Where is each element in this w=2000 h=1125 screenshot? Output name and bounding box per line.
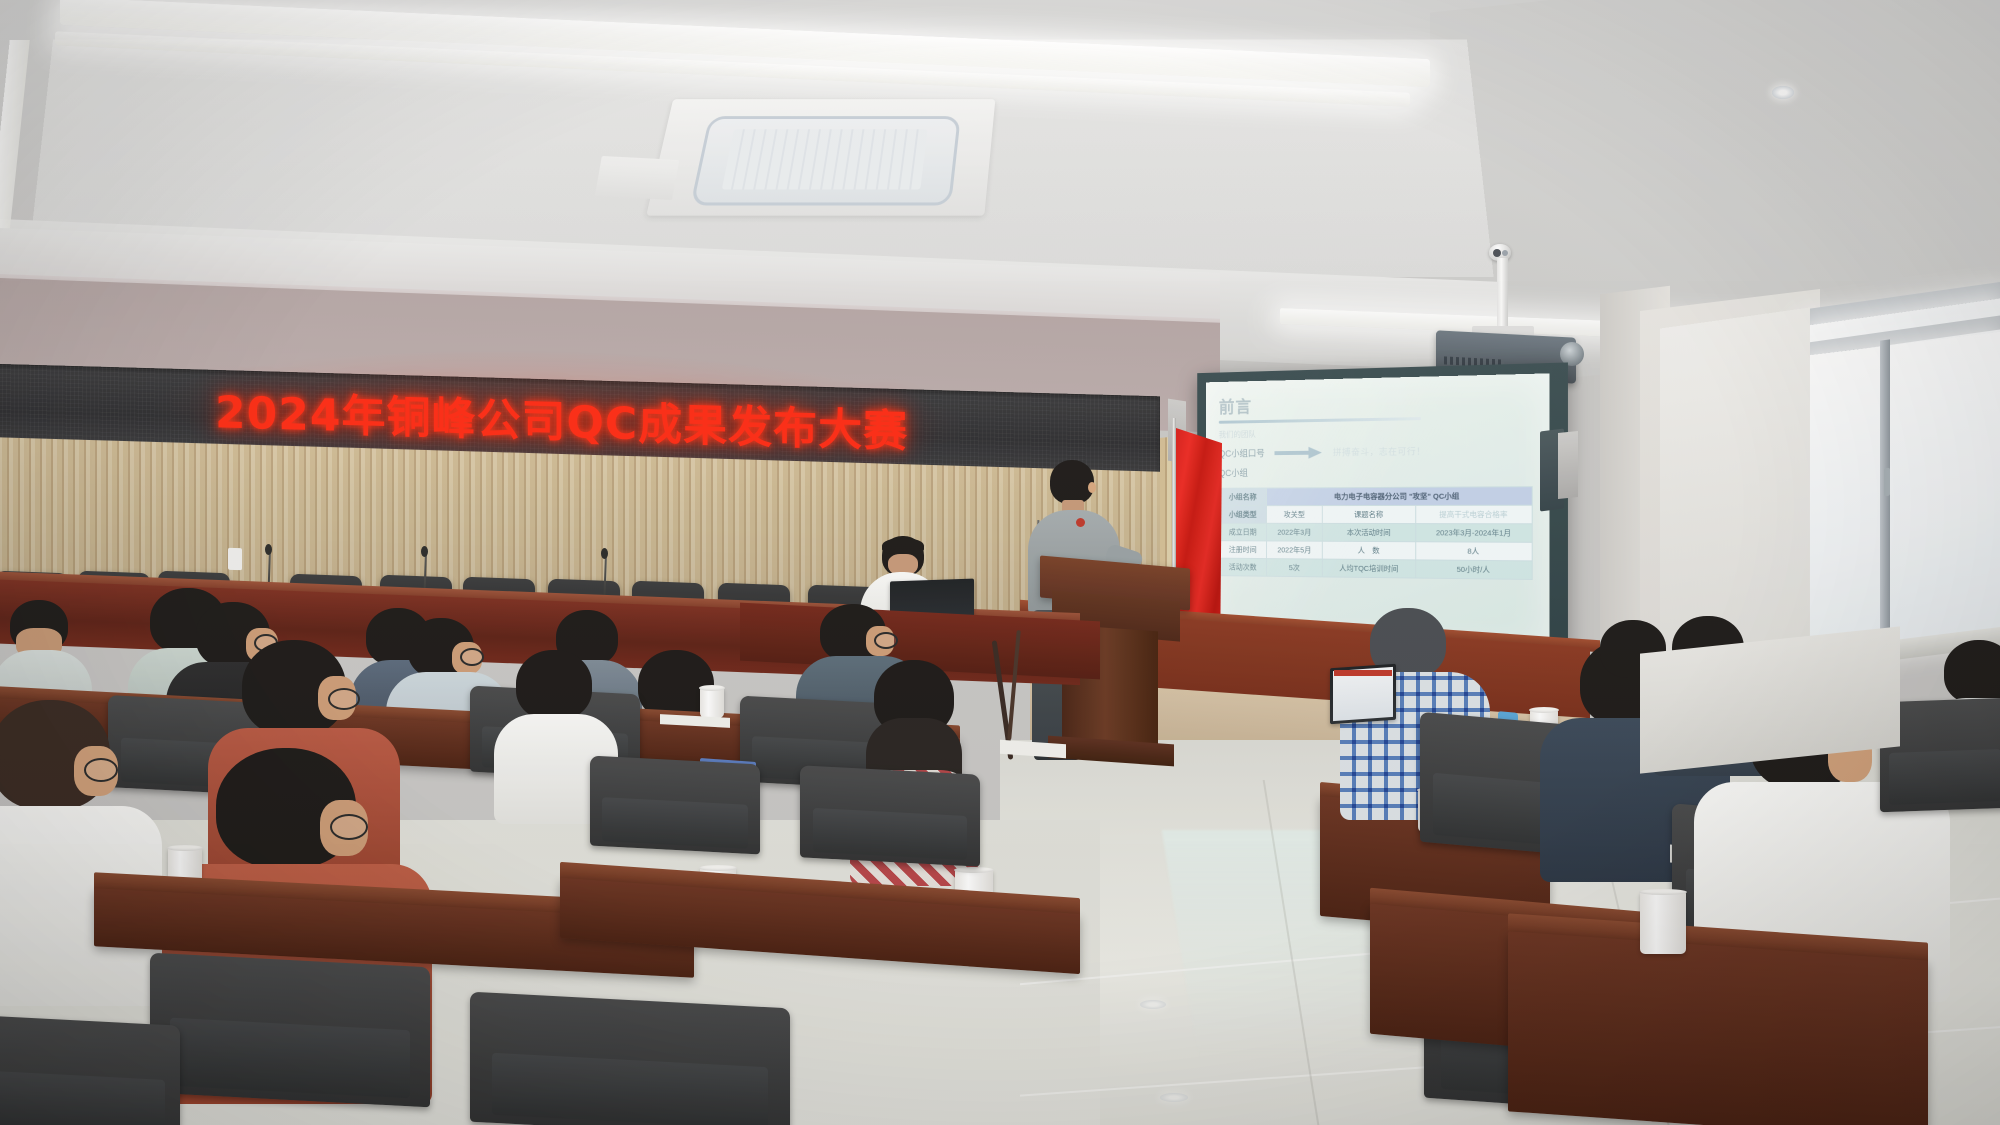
slide-slogan-text: 拼搏奋斗，志在可行！ (1333, 444, 1426, 458)
floor-light-reflection (1160, 1093, 1188, 1102)
chair[interactable] (800, 765, 980, 866)
microphone-head-icon (601, 548, 608, 559)
slide-table: 小组名称 电力电子电容器分公司 "攻坚" QC小组 小组类型 攻关型 课题名称 … (1219, 486, 1533, 580)
wall-switch-plate[interactable] (228, 548, 242, 570)
table-row: 成立日期 2022年3月 本次活动时间 2023年3月-2024年1月 (1219, 523, 1532, 542)
slide-group-row: QC小组 (1219, 463, 1535, 479)
microphone-head-icon (265, 544, 272, 555)
window-latch-icon[interactable] (1884, 468, 1890, 497)
projector-mount-pole (1497, 258, 1508, 332)
slide-subtitle: 我们的团队 (1219, 424, 1535, 440)
table-cell: 小组名称 (1219, 488, 1266, 506)
table-row: 活动次数 5次 人均TQC培训时间 50小时/人 (1219, 558, 1532, 579)
chair[interactable] (470, 992, 790, 1125)
projection-screen: 前言 我们的团队 QC小组口号 拼搏奋斗，志在可行！ QC小组 小组名称 电力电… (1206, 373, 1549, 654)
table-row: 小组名称 电力电子电容器分公司 "攻坚" QC小组 (1219, 487, 1532, 506)
laptop-brand-logo (900, 585, 908, 590)
table-row: 小组类型 攻关型 课题名称 提高干式电容合格率 (1219, 505, 1532, 524)
slide-title-rule (1219, 417, 1421, 424)
table-cell: 2022年3月 (1266, 523, 1322, 541)
table-cell: 小组类型 (1219, 506, 1266, 524)
laptop-app-titlebar (1334, 670, 1392, 676)
slide-title: 前言 (1219, 386, 1535, 418)
table-cell: 2023年3月-2024年1月 (1416, 524, 1533, 543)
arrow-right-icon (1274, 447, 1323, 457)
paper-cup[interactable] (700, 688, 724, 718)
chair[interactable] (590, 756, 760, 855)
table-cell: 8人 (1416, 542, 1533, 561)
table-cell: 人均TQC培训时间 (1322, 559, 1415, 578)
screen-bracket (1558, 431, 1578, 499)
downlight (1772, 86, 1794, 99)
chair[interactable] (150, 953, 430, 1108)
table-cell: 攻关型 (1266, 506, 1322, 524)
floor-light-reflection (1140, 1000, 1166, 1009)
microphone-head-icon (421, 546, 428, 557)
chair[interactable] (0, 1014, 180, 1125)
table-cell: 50小时/人 (1416, 560, 1533, 580)
ceiling-vent (595, 156, 679, 200)
table-cell: 本次活动时间 (1322, 523, 1415, 541)
table-cell: 2022年5月 (1266, 541, 1322, 559)
table-cell: 注册时间 (1219, 541, 1266, 559)
table-cell: 电力电子电容器分公司 "攻坚" QC小组 (1266, 487, 1532, 506)
lapel-badge-icon (1076, 518, 1085, 527)
table-cell: 活动次数 (1219, 558, 1266, 576)
table-cell: 人 数 (1322, 541, 1415, 560)
paper-cup[interactable] (1640, 892, 1686, 954)
table-cell: 提高干式电容合格率 (1416, 505, 1533, 524)
table-cell: 5次 (1266, 559, 1322, 577)
audience-desk (1508, 931, 1928, 1125)
ceiling-ac-grille (722, 129, 928, 189)
pier-wall (1660, 307, 1810, 658)
slide-slogan-row: QC小组口号 拼搏奋斗，志在可行！ (1219, 443, 1535, 460)
slide-content: 前言 我们的团队 QC小组口号 拼搏奋斗，志在可行！ QC小组 小组名称 电力电… (1206, 373, 1549, 654)
slide-slogan-label: QC小组口号 (1219, 446, 1265, 459)
table-cell: 成立日期 (1219, 523, 1266, 541)
conference-room-photo: 2024年铜峰公司QC成果发布大赛 前言 我们的团队 QC小组口号 拼搏奋斗，志… (0, 0, 2000, 1125)
slide-group-label: QC小组 (1219, 466, 1248, 479)
table-cell: 课题名称 (1322, 505, 1415, 523)
window-glass (1800, 332, 2000, 657)
